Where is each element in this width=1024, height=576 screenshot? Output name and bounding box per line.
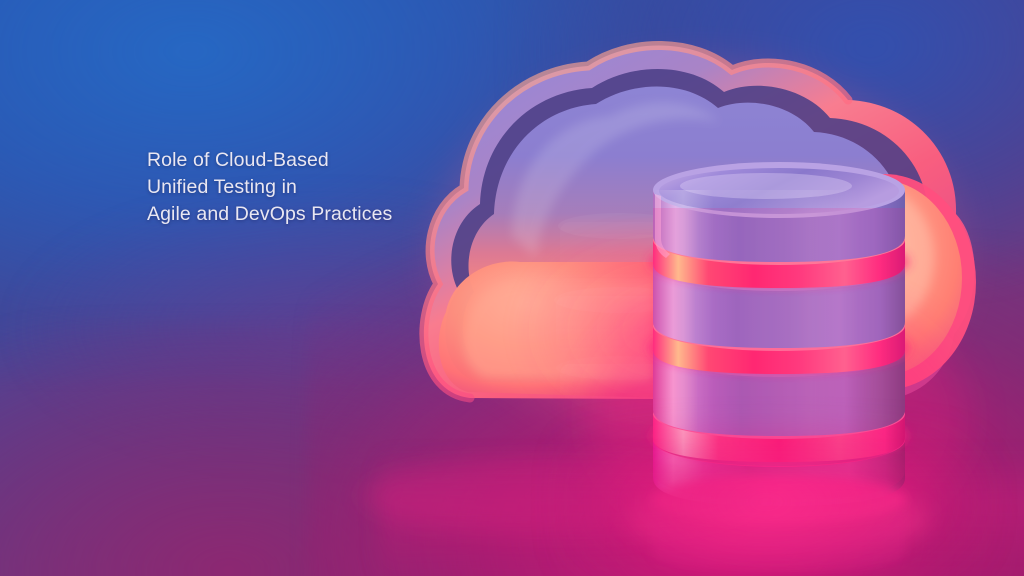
poster-canvas: Role of Cloud-Based Unified Testing in A… (0, 0, 1024, 576)
floor-glow (560, 430, 990, 576)
page-title: Role of Cloud-Based Unified Testing in A… (147, 147, 477, 228)
